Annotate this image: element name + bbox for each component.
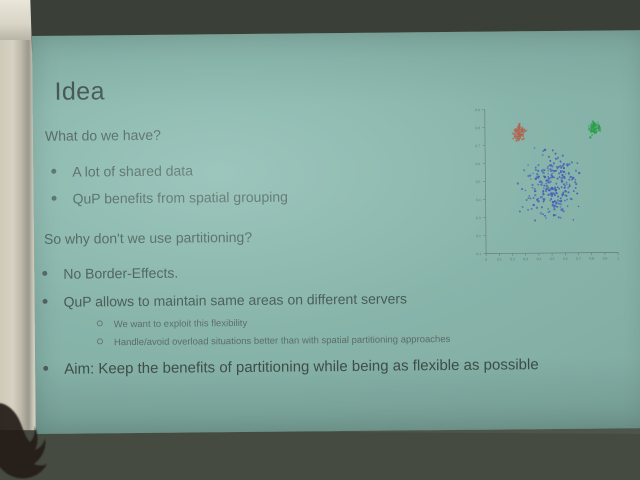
question-what-do-we-have: What do we have? xyxy=(45,127,161,144)
scatter-series-red-cluster xyxy=(512,123,528,142)
projection-screen: Idea What do we have? A lot of shared da… xyxy=(32,30,640,434)
bullet-dot-icon xyxy=(51,169,56,174)
sub-bullet-text: Handle/avoid overload situations better … xyxy=(114,334,450,348)
svg-text:0.4: 0.4 xyxy=(537,257,542,261)
bullet-text: No Border-Effects. xyxy=(63,265,178,282)
svg-text:0.3: 0.3 xyxy=(523,257,528,261)
svg-text:0.1: 0.1 xyxy=(497,258,502,262)
bullet-no-border-effects: No Border-Effects. xyxy=(42,265,178,282)
presentation-slide: Idea What do we have? A lot of shared da… xyxy=(32,30,640,434)
svg-text:0.6: 0.6 xyxy=(563,257,568,261)
bullet-a-lot-of-shared-data: A lot of shared data xyxy=(51,162,193,179)
svg-text:0.2: 0.2 xyxy=(476,234,481,238)
bullet-dot-icon xyxy=(43,299,48,304)
scatter-plot-figure: 0.10.20.30.40.50.60.70.80.900.10.20.30.4… xyxy=(425,100,622,274)
scatter-plot-svg: 0.10.20.30.40.50.60.70.80.900.10.20.30.4… xyxy=(425,100,622,274)
sub-bullet-exploit-flexibility: We want to exploit this flexibility xyxy=(97,318,248,330)
bullet-qup-spatial-grouping: QuP benefits from spatial grouping xyxy=(51,189,287,207)
question-why-not-partitioning: So why don't we use partitioning? xyxy=(44,229,252,247)
svg-text:0.7: 0.7 xyxy=(475,144,480,148)
svg-text:0.6: 0.6 xyxy=(476,162,481,166)
hand-silhouette xyxy=(0,398,52,480)
svg-text:0.9: 0.9 xyxy=(603,256,608,260)
sub-bullet-text: We want to exploit this flexibility xyxy=(114,318,248,330)
svg-text:1: 1 xyxy=(617,256,619,260)
svg-text:0.9: 0.9 xyxy=(475,108,480,112)
hollow-bullet-dot-icon xyxy=(97,338,103,344)
svg-text:0.2: 0.2 xyxy=(510,257,515,261)
svg-text:0.7: 0.7 xyxy=(576,257,581,261)
scatter-series-green-cluster xyxy=(588,120,602,138)
hollow-bullet-dot-icon xyxy=(97,320,103,326)
screenshot-root: Idea What do we have? A lot of shared da… xyxy=(0,0,640,480)
svg-text:0.5: 0.5 xyxy=(550,257,555,261)
svg-text:0.8: 0.8 xyxy=(475,126,480,130)
bullet-text: QuP benefits from spatial grouping xyxy=(72,189,287,207)
svg-text:0: 0 xyxy=(485,258,487,262)
bullet-text: QuP allows to maintain same areas on dif… xyxy=(63,290,407,309)
bullet-dot-icon xyxy=(42,271,47,276)
sub-bullet-overload-situations: Handle/avoid overload situations better … xyxy=(97,334,450,348)
bullet-qup-same-areas: QuP allows to maintain same areas on dif… xyxy=(42,290,407,309)
bullet-text: A lot of shared data xyxy=(72,162,193,179)
slide-title: Idea xyxy=(54,77,105,106)
svg-text:0.1: 0.1 xyxy=(476,252,481,256)
bullet-text: Aim: Keep the benefits of partitioning w… xyxy=(64,356,539,378)
svg-text:0.5: 0.5 xyxy=(476,180,481,184)
svg-text:0.4: 0.4 xyxy=(476,198,481,202)
scatter-series-blue-cluster xyxy=(516,147,581,222)
svg-text:0.3: 0.3 xyxy=(476,216,481,220)
bullet-dot-icon xyxy=(43,365,48,370)
bullet-dot-icon xyxy=(52,196,57,201)
svg-text:0.8: 0.8 xyxy=(589,257,594,261)
bullet-aim-statement: Aim: Keep the benefits of partitioning w… xyxy=(43,356,539,378)
screen-bottom-shadow-band xyxy=(0,430,640,480)
